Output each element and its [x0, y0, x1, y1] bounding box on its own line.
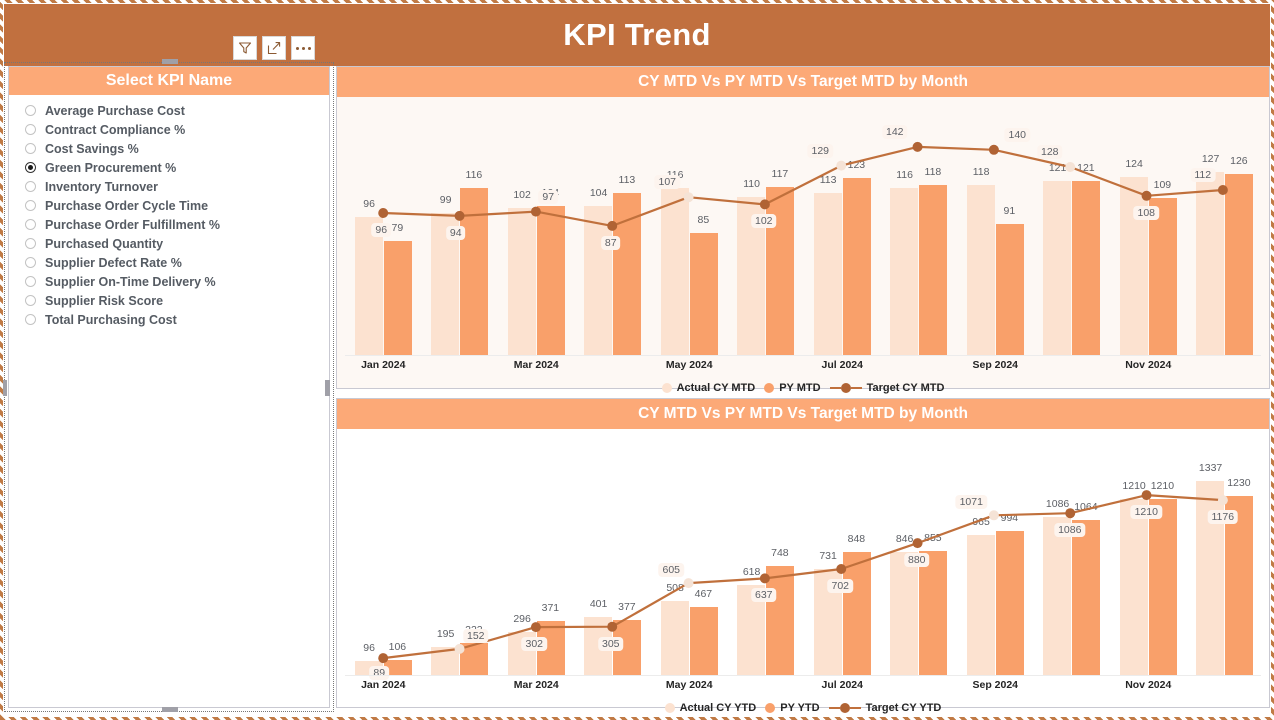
legend-mtd[interactable]: Actual CY MTDPY MTDTarget CY MTD: [337, 377, 1269, 399]
bar-actual-value-label: 118: [973, 166, 990, 178]
bar-actual-value-label: 113: [820, 174, 837, 186]
bar-py-value-label: 116: [466, 169, 483, 181]
slicer-header: Select KPI Name: [9, 67, 329, 95]
bar-py[interactable]: [1072, 520, 1100, 675]
target-value-label: 97: [538, 190, 558, 204]
slicer-item-label: Supplier On-Time Delivery %: [45, 275, 216, 289]
bar-py[interactable]: [690, 233, 718, 355]
x-axis-tick-label: Jul 2024: [822, 679, 863, 691]
bar-actual[interactable]: [431, 647, 459, 675]
bar-group[interactable]: [1043, 433, 1100, 675]
chart-title-bar-mtd: CY MTD Vs PY MTD Vs Target MTD by Month: [337, 67, 1269, 97]
legend-item[interactable]: PY YTD: [765, 702, 819, 714]
slicer-title: Select KPI Name: [106, 72, 232, 90]
target-value-label: 880: [904, 553, 930, 567]
slicer-item[interactable]: Supplier Defect Rate %: [25, 253, 329, 272]
target-value-label: 87: [601, 236, 621, 250]
plot-area-mtd[interactable]: 9679991161021041041131168511011711312311…: [337, 97, 1269, 355]
slicer-item-label: Purchase Order Fulfillment %: [45, 218, 220, 232]
slicer-item[interactable]: Purchase Order Cycle Time: [25, 196, 329, 215]
bar-actual-value-label: 116: [896, 169, 913, 181]
bar-actual-value-label: 1210: [1122, 480, 1145, 492]
bar-py[interactable]: [843, 178, 871, 355]
bar-actual-value-label: 731: [819, 550, 837, 562]
bar-actual-value-label: 102: [513, 189, 531, 201]
x-axis-tick-label: Jul 2024: [822, 359, 863, 371]
x-axis-ytd: Jan 2024Mar 2024May 2024Jul 2024Sep 2024…: [345, 675, 1261, 697]
bar-actual-value-label: 1337: [1199, 462, 1222, 474]
filter-icon: [238, 41, 252, 55]
target-value-label: 112: [1190, 168, 1215, 182]
target-value-label: 108: [1133, 206, 1159, 220]
bar-py[interactable]: [996, 224, 1024, 355]
bar-py-value-label: 123: [848, 159, 866, 171]
radio-unselected-icon[interactable]: [25, 238, 36, 249]
bar-actual[interactable]: [1120, 499, 1148, 675]
bar-py-value-label: 85: [698, 214, 710, 226]
slicer-item-label: Inventory Turnover: [45, 180, 158, 194]
x-axis-tick-label: May 2024: [666, 359, 713, 371]
bar-actual-value-label: 127: [1202, 153, 1220, 165]
bar-actual[interactable]: [661, 601, 689, 675]
bar-py-value-label: 848: [848, 533, 866, 545]
bar-group[interactable]: [1196, 101, 1253, 355]
bar-group[interactable]: [1120, 101, 1177, 355]
bar-py-value-label: 855: [924, 532, 942, 544]
slicer-item[interactable]: Contract Compliance %: [25, 120, 329, 139]
x-axis-tick-label: Mar 2024: [514, 359, 559, 371]
x-axis-tick-label: Jan 2024: [361, 359, 405, 371]
legend-item[interactable]: PY MTD: [764, 382, 820, 394]
slicer-item-label: Cost Savings %: [45, 142, 139, 156]
bar-py[interactable]: [996, 531, 1024, 675]
legend-line-icon: [829, 703, 861, 713]
bar-actual[interactable]: [661, 188, 689, 355]
bar-py-value-label: 79: [392, 222, 404, 234]
bar-py-value-label: 1210: [1151, 480, 1174, 492]
legend-item[interactable]: Target CY YTD: [829, 702, 942, 714]
legend-item[interactable]: Actual CY MTD: [662, 382, 756, 394]
bar-py-value-label: 748: [771, 547, 789, 559]
bar-py-value-label: 117: [772, 168, 789, 180]
bar-actual[interactable]: [890, 188, 918, 355]
bar-actual[interactable]: [1043, 517, 1071, 675]
legend-line-icon: [830, 383, 862, 393]
target-value-label: 96: [371, 223, 391, 237]
bar-py[interactable]: [690, 607, 718, 675]
bar-group[interactable]: [814, 101, 871, 355]
slicer-item-label: Average Purchase Cost: [45, 104, 185, 118]
more-options-button[interactable]: [291, 36, 315, 60]
target-value-label: 1210: [1131, 505, 1162, 519]
report-title-bar: KPI Trend: [4, 4, 1270, 66]
x-axis-tick-label: Sep 2024: [972, 359, 1018, 371]
target-value-label: 94: [446, 226, 466, 240]
legend-label: PY YTD: [780, 702, 819, 714]
chart-title-bar-ytd: CY MTD Vs PY MTD Vs Target MTD by Month: [337, 399, 1269, 429]
bar-actual-value-label: 110: [743, 178, 760, 190]
bar-py-value-label: 121: [1077, 162, 1095, 174]
bar-group[interactable]: [661, 101, 718, 355]
radio-unselected-icon[interactable]: [25, 124, 36, 135]
legend-swatch-icon: [665, 703, 675, 713]
bar-py-value-label: 126: [1230, 155, 1248, 167]
legend-label: Actual CY YTD: [680, 702, 757, 714]
x-axis-tick-label: Nov 2024: [1125, 359, 1171, 371]
bar-actual-value-label: 104: [590, 187, 608, 199]
bar-actual-value-label: 1086: [1046, 498, 1069, 510]
x-axis-mtd: Jan 2024Mar 2024May 2024Jul 2024Sep 2024…: [345, 355, 1261, 377]
bar-actual-value-label: 96: [363, 198, 375, 210]
bar-actual[interactable]: [967, 185, 995, 355]
bar-py[interactable]: [1072, 181, 1100, 355]
legend-ytd[interactable]: Actual CY YTDPY YTDTarget CY YTD: [337, 697, 1269, 719]
radio-unselected-icon[interactable]: [25, 181, 36, 192]
target-value-label: 637: [751, 588, 777, 602]
resize-handle-bottom[interactable]: [162, 707, 178, 712]
more-options-icon: [296, 47, 311, 50]
target-value-label: 140: [1004, 128, 1030, 142]
slicer-item[interactable]: Total Purchasing Cost: [25, 310, 329, 329]
resize-handle-right[interactable]: [325, 380, 330, 396]
target-value-label: 1176: [1207, 510, 1238, 524]
bar-actual-value-label: 96: [363, 642, 375, 654]
bar-actual-value-label: 296: [513, 613, 531, 625]
radio-unselected-icon[interactable]: [25, 276, 36, 287]
bar-py[interactable]: [537, 206, 565, 356]
bar-actual-value-label: 965: [972, 516, 990, 528]
legend-label: Target CY YTD: [866, 702, 942, 714]
target-value-label: 152: [463, 629, 489, 643]
legend-label: PY MTD: [779, 382, 820, 394]
x-axis-tick-label: Jan 2024: [361, 679, 405, 691]
bar-actual[interactable]: [584, 206, 612, 356]
x-axis-tick-label: Sep 2024: [972, 679, 1018, 691]
resize-handle-top[interactable]: [162, 59, 178, 64]
bar-py[interactable]: [613, 193, 641, 355]
legend-label: Target CY MTD: [867, 382, 945, 394]
slicer-item-label: Contract Compliance %: [45, 123, 185, 137]
bar-py-value-label: 118: [925, 166, 942, 178]
bar-py[interactable]: [919, 185, 947, 355]
bar-actual-value-label: 124: [1125, 158, 1143, 170]
target-value-label: 129: [807, 144, 833, 158]
slicer-item[interactable]: Average Purchase Cost: [25, 101, 329, 120]
bar-actual[interactable]: [355, 217, 383, 355]
slicer-item-label: Supplier Risk Score: [45, 294, 163, 308]
kpi-name-slicer[interactable]: Select KPI Name Average Purchase CostCon…: [8, 66, 330, 708]
slicer-item-label: Green Procurement %: [45, 161, 176, 175]
chart-card-mtd: CY MTD Vs PY MTD Vs Target MTD by Month …: [336, 66, 1270, 389]
x-axis-tick-label: Nov 2024: [1125, 679, 1171, 691]
legend-label: Actual CY MTD: [677, 382, 756, 394]
target-value-label: 107: [654, 175, 680, 189]
bar-actual[interactable]: [1043, 181, 1071, 355]
target-value-label: 305: [598, 637, 624, 651]
chart-card-ytd: CY MTD Vs PY MTD Vs Target MTD by Month …: [336, 398, 1270, 708]
chart-title-mtd: CY MTD Vs PY MTD Vs Target MTD by Month: [638, 73, 968, 91]
bar-py[interactable]: [843, 552, 871, 675]
x-axis-tick-label: Mar 2024: [514, 679, 559, 691]
slicer-item-label: Total Purchasing Cost: [45, 313, 177, 327]
bar-actual-value-label: 401: [590, 598, 608, 610]
bar-group[interactable]: [508, 101, 565, 355]
target-value-label: 128: [1037, 145, 1063, 159]
bar-group[interactable]: [890, 101, 947, 355]
page-title: KPI Trend: [563, 17, 710, 53]
bar-py-value-label: 91: [1004, 205, 1016, 217]
bar-py-value-label: 113: [619, 174, 636, 186]
radio-unselected-icon[interactable]: [25, 143, 36, 154]
slicer-item-label: Supplier Defect Rate %: [45, 256, 182, 270]
powerbi-report-page: KPI Trend Select KPI Name: [0, 0, 1274, 720]
bar-group[interactable]: [1120, 433, 1177, 675]
bar-group[interactable]: [1043, 101, 1100, 355]
bar-group[interactable]: [584, 101, 641, 355]
bar-py[interactable]: [460, 188, 488, 355]
bar-py-value-label: 994: [1001, 512, 1019, 524]
legend-item[interactable]: Target CY MTD: [830, 382, 945, 394]
bar-actual[interactable]: [967, 535, 995, 675]
radio-unselected-icon[interactable]: [25, 257, 36, 268]
visual-header-toolbar[interactable]: [233, 36, 315, 60]
slicer-item[interactable]: Green Procurement %: [25, 158, 329, 177]
bar-group[interactable]: [967, 433, 1024, 675]
target-value-label: 302: [521, 637, 547, 651]
target-value-label: 1086: [1054, 523, 1085, 537]
chart-title-ytd: CY MTD Vs PY MTD Vs Target MTD by Month: [638, 405, 968, 423]
bar-py[interactable]: [460, 643, 488, 675]
bar-actual-value-label: 195: [437, 628, 455, 640]
bar-py-value-label: 1230: [1227, 477, 1250, 489]
radio-unselected-icon[interactable]: [25, 105, 36, 116]
radio-selected-icon[interactable]: [25, 162, 36, 173]
resize-handle-left[interactable]: [2, 380, 7, 396]
slicer-item[interactable]: Supplier Risk Score: [25, 291, 329, 310]
bar-py[interactable]: [1149, 499, 1177, 675]
legend-swatch-icon: [765, 703, 775, 713]
bar-py[interactable]: [766, 187, 794, 355]
focus-mode-button[interactable]: [262, 36, 286, 60]
plot-area-ytd[interactable]: 9610619522229637140137750846761874873184…: [337, 429, 1269, 675]
bar-actual-value-label: 508: [666, 582, 684, 594]
target-value-label: 1071: [956, 495, 987, 509]
bar-py[interactable]: [1149, 198, 1177, 355]
bar-actual[interactable]: [508, 208, 536, 355]
radio-unselected-icon[interactable]: [25, 200, 36, 211]
radio-unselected-icon[interactable]: [25, 314, 36, 325]
bar-py[interactable]: [919, 551, 947, 675]
target-value-label: 142: [882, 125, 908, 139]
bar-py-value-label: 467: [695, 588, 713, 600]
bar-group[interactable]: [355, 433, 412, 675]
slicer-item-label: Purchase Order Cycle Time: [45, 199, 208, 213]
bar-py-value-label: 377: [618, 601, 636, 613]
legend-swatch-icon: [764, 383, 774, 393]
bar-group[interactable]: [661, 433, 718, 675]
legend-item[interactable]: Actual CY YTD: [665, 702, 757, 714]
bar-py-value-label: 106: [389, 641, 407, 653]
bar-actual-value-label: 121: [1049, 162, 1067, 174]
slicer-item-list[interactable]: Average Purchase CostContract Compliance…: [9, 95, 329, 329]
bar-py-value-label: 1064: [1074, 501, 1097, 513]
radio-unselected-icon[interactable]: [25, 295, 36, 306]
bar-actual-value-label: 618: [743, 566, 761, 578]
bar-py[interactable]: [384, 241, 412, 355]
bar-actual[interactable]: [1196, 172, 1224, 355]
bar-py-value-label: 371: [542, 602, 560, 614]
target-value-label: 102: [751, 214, 777, 228]
slicer-item-label: Purchased Quantity: [45, 237, 163, 251]
filter-icon-button[interactable]: [233, 36, 257, 60]
bar-actual-value-label: 99: [440, 194, 452, 206]
bar-py[interactable]: [1225, 174, 1253, 355]
bar-actual[interactable]: [1120, 177, 1148, 355]
legend-swatch-icon: [662, 383, 672, 393]
radio-unselected-icon[interactable]: [25, 219, 36, 230]
x-axis-tick-label: May 2024: [666, 679, 713, 691]
target-value-label: 702: [827, 579, 853, 593]
slicer-item[interactable]: Supplier On-Time Delivery %: [25, 272, 329, 291]
slicer-item[interactable]: Purchase Order Fulfillment %: [25, 215, 329, 234]
bar-py-value-label: 109: [1154, 179, 1172, 191]
slicer-item[interactable]: Purchased Quantity: [25, 234, 329, 253]
bar-actual-value-label: 846: [896, 533, 914, 545]
slicer-item[interactable]: Cost Savings %: [25, 139, 329, 158]
bar-actual[interactable]: [890, 552, 918, 675]
target-value-label: 605: [658, 563, 684, 577]
slicer-item[interactable]: Inventory Turnover: [25, 177, 329, 196]
bar-py[interactable]: [766, 566, 794, 675]
focus-mode-icon: [267, 41, 281, 55]
bar-actual[interactable]: [814, 193, 842, 355]
